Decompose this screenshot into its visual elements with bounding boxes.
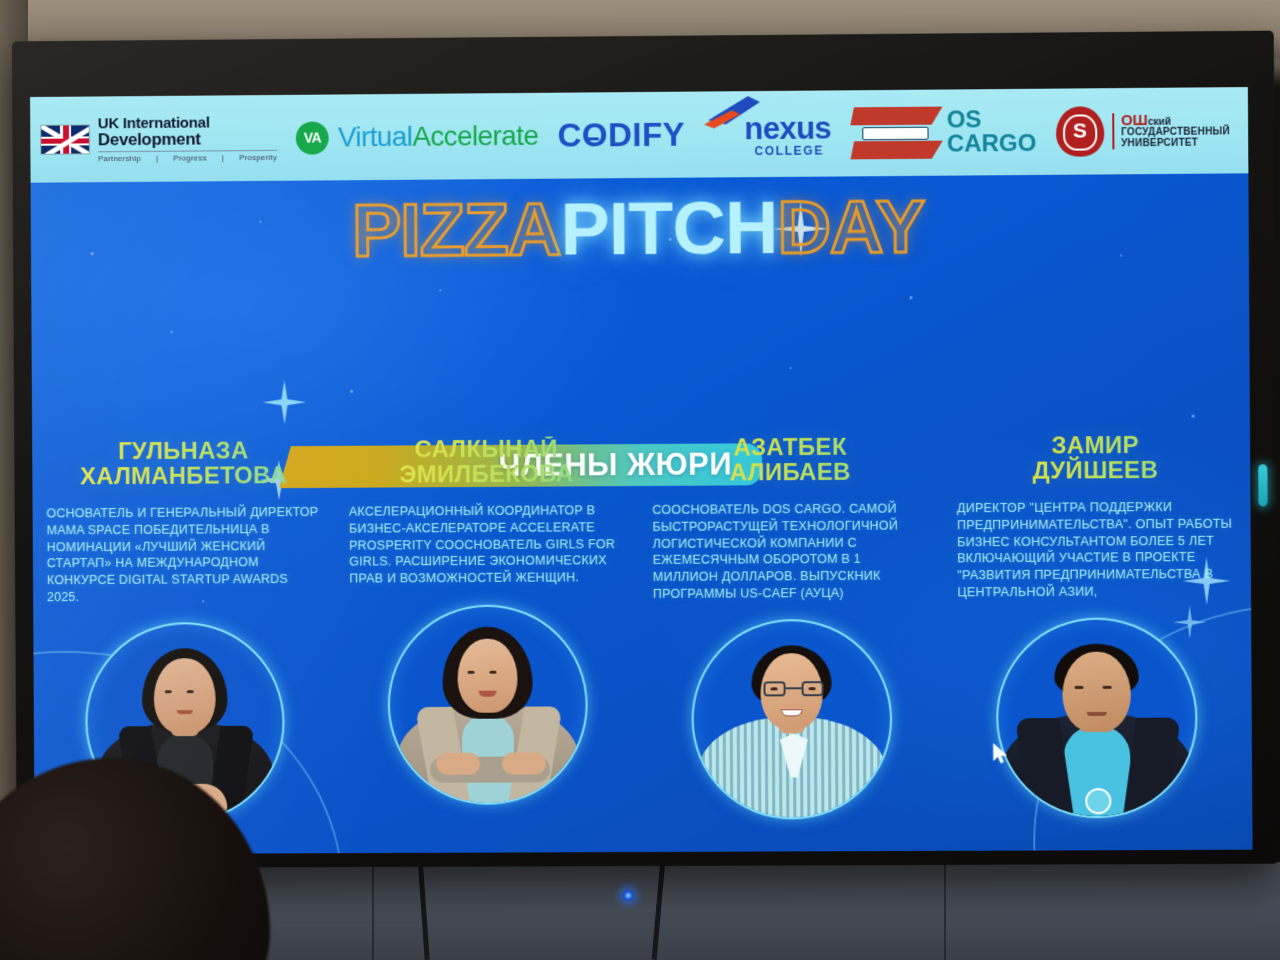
jury-member-bio: ОСНОВАТЕЛЬ И ГЕНЕРАЛЬНЫЙ ДИРЕКТОР MAMA S… [46,504,321,605]
jury-member-card[interactable]: САЛКЫНАЙ ЭМИЛБЕКОВА АКСЕЛЕРАЦИОННЫЙ КООР… [334,436,640,821]
ukid-tagline-2: Progress [173,154,206,162]
uk-flag-icon [40,124,90,154]
ukid-tagline-3: Prosperity [239,153,277,161]
jury-member-photo [996,617,1198,818]
logo-dos-cargo: OS CARGO [850,104,1036,162]
jury-member-name: АЗАТБЕК АЛИБАЕВ [652,434,929,486]
jury-last-name: ХАЛМАНБЕТОВА [46,463,321,490]
jury-member-card[interactable]: ЗАМИР ДУЙШЕЕВ ДИРЕКТОР "ЦЕНТРА ПОДДЕРЖКИ… [942,432,1250,819]
ukid-tagline-sep-2: | [222,154,224,162]
jury-member-grid: ГУЛЬНАЗА ХАЛМАНБЕТОВА ОСНОВАТЕЛЬ И ГЕНЕР… [32,432,1252,822]
display-screen[interactable]: UK International Development Partnership… [30,87,1252,854]
jury-member-card[interactable]: АЗАТБЕК АЛИБАЕВ СООСНОВАТЕЛЬ DOS CARGO. … [638,434,945,820]
sponsor-logo-bar: UK International Development Partnership… [30,87,1248,183]
jury-first-name: ГУЛЬНАЗА [46,438,321,465]
codify-underscore-mark [587,137,600,140]
ukid-line2: Development [98,129,277,147]
oshsu-emblem-icon: S [1056,106,1105,157]
display-device: UK International Development Partnership… [12,31,1279,869]
ukid-line1: UK International [98,114,277,130]
dos-cargo-line1: OS [947,108,1037,133]
logo-virtualaccelerate: VA VirtualAccelerate [296,119,539,154]
jury-member-name: ЗАМИР ДУЙШЕЕВ [956,432,1234,484]
oshsu-line3: УНИВЕРСИТЕТ [1121,138,1230,149]
va-word-part1: Virtual [338,121,413,153]
dos-cargo-line2: CARGO [947,132,1037,157]
jury-first-name: САЛКЫНАЙ [348,436,624,463]
logo-codify: CODIFY [557,116,685,155]
title-part-pizza: PIZZA [352,188,561,272]
codify-text: CODIFY [557,116,685,154]
logo-uk-international-development: UK International Development Partnership… [40,114,277,163]
mouse-pointer-icon [992,742,1008,766]
va-word-part2: Accelerate [412,120,538,152]
title-part-pitch: PITCH [560,186,778,271]
side-status-led [1258,464,1267,506]
jury-first-name: АЗАТБЕК [652,434,929,461]
logo-osh-state-university: S ОШский ГОСУДАРСТВЕННЫЙ УНИВЕРСИТЕТ [1056,105,1231,157]
title-part-day: DAY [777,185,924,269]
jury-first-name: ЗАМИР [956,432,1234,459]
jury-last-name: АЛИБАЕВ [652,459,929,486]
jury-member-bio: АКСЕЛЕРАЦИОННЫЙ КООРДИНАТОР В БИЗНЕС-АКС… [349,502,625,587]
jury-last-name: ЭМИЛБЕКОВА [349,461,625,488]
ukid-tagline-1: Partnership [98,154,141,162]
slide-title: PIZZAPITCHDAY [31,187,1249,270]
power-led-indicator [623,890,634,901]
dos-cargo-truck-icon [850,105,943,162]
jury-last-name: ДУЙШЕЕВ [957,458,1235,485]
ukid-tagline-sep-1: | [156,154,158,162]
jury-member-photo [691,619,893,820]
jury-member-name: САЛКЫНАЙ ЭМИЛБЕКОВА [348,436,624,488]
oshsu-emblem-letter: S [1073,119,1087,143]
jury-member-bio: СООСНОВАТЕЛЬ DOS CARGO. САМОЙ БЫСТРОРАСТ… [652,501,929,602]
logo-nexus-college: nexus COLLEGE [704,110,831,158]
nexus-sub: COLLEGE [754,143,823,158]
jury-member-bio: ДИРЕКТОР "ЦЕНТРА ПОДДЕРЖКИ ПРЕДПРИНИМАТЕ… [957,499,1235,601]
presentation-slide[interactable]: PIZZAPITCHDAY ЧЛЕНЫ ЖЮРИ ГУЛЬНАЗА ХАЛМАН… [31,173,1253,854]
ukid-tagline: Partnership | Progress | Prosperity [98,149,277,162]
va-badge-icon: VA [296,121,329,154]
jury-member-name: ГУЛЬНАЗА ХАЛМАНБЕТОВА [46,438,321,490]
jury-member-photo [387,604,588,805]
nexus-bird-icon [702,93,768,130]
sparkle-icon-left [262,380,306,424]
